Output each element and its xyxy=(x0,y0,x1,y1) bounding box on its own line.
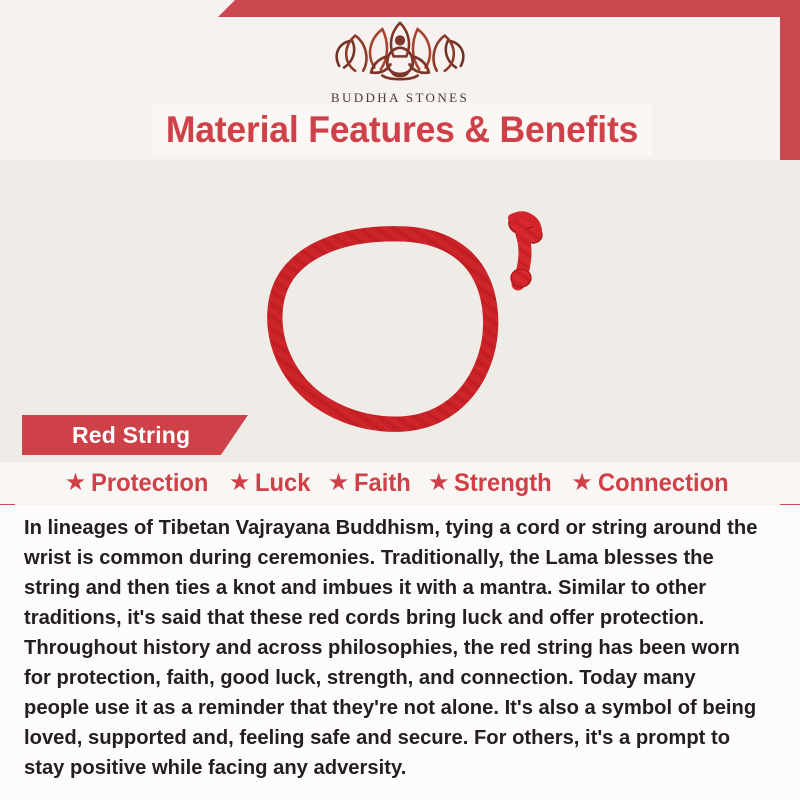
benefit-item: ★ Faith xyxy=(328,469,414,498)
star-icon: ★ xyxy=(328,471,350,495)
benefit-item: ★ Protection xyxy=(65,469,215,498)
star-icon: ★ xyxy=(571,471,593,495)
benefit-label: Faith xyxy=(354,469,411,498)
benefit-item: ★ Luck xyxy=(229,469,314,498)
benefit-label: Protection xyxy=(91,469,208,498)
brand-logo: BUDDHA STONES xyxy=(0,18,800,106)
benefit-label: Strength xyxy=(454,469,552,498)
description-block: In lineages of Tibetan Vajrayana Buddhis… xyxy=(0,505,800,800)
star-icon: ★ xyxy=(229,471,251,495)
title-banner: Material Features & Benefits xyxy=(152,103,652,156)
benefit-item: ★ Connection xyxy=(571,469,735,498)
star-icon: ★ xyxy=(428,471,450,495)
material-label-banner: Red String xyxy=(22,415,248,455)
star-icon: ★ xyxy=(65,471,87,495)
infographic-page: BUDDHA STONES Material Features & Benefi… xyxy=(0,0,800,800)
top-red-accent-bar xyxy=(218,0,800,17)
benefits-row: ★ Protection ★ Luck ★ Faith ★ Strength ★… xyxy=(0,462,800,504)
material-label-text: Red String xyxy=(72,422,190,449)
lotus-meditation-icon xyxy=(320,18,480,86)
benefit-item: ★ Strength xyxy=(428,469,557,498)
description-text: In lineages of Tibetan Vajrayana Buddhis… xyxy=(24,513,765,783)
benefit-label: Connection xyxy=(598,469,729,498)
benefit-label: Luck xyxy=(255,469,310,498)
page-title: Material Features & Benefits xyxy=(166,109,638,151)
